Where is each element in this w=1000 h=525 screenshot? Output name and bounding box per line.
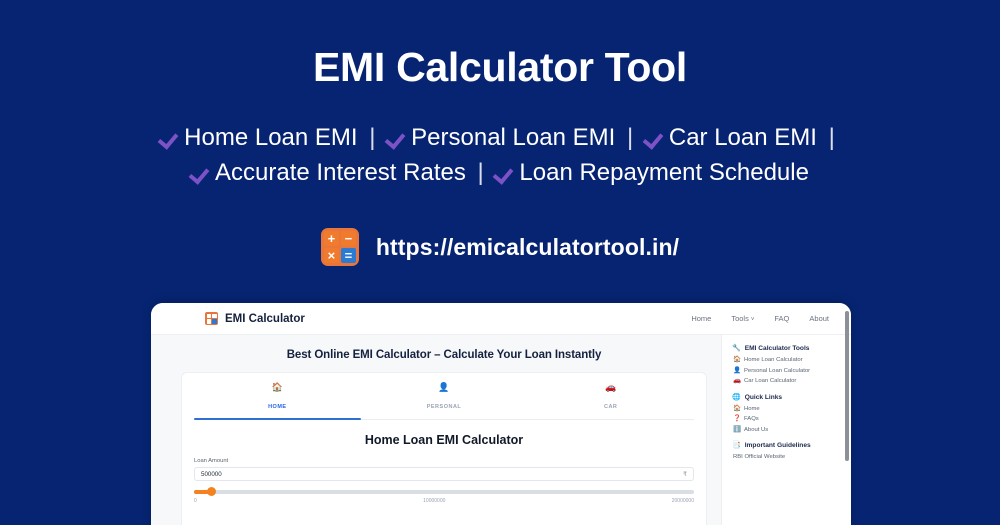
nav-item-about[interactable]: About	[809, 314, 829, 323]
loan-amount-value: 500000	[201, 471, 222, 478]
sidebar-section-tools: 🔧 EMI Calculator Tools 🏠 Home Loan Calcu…	[732, 345, 843, 385]
check-icon	[495, 162, 515, 182]
home-icon: 🏠	[194, 382, 361, 393]
site-header: EMI Calculator Home Tools˅ FAQ About	[151, 303, 851, 335]
tab-car-label: CAR	[604, 404, 617, 410]
tab-home[interactable]: 🏠 HOME	[194, 382, 361, 419]
slider-scale: 0 10000000 20000000	[194, 498, 694, 504]
site-nav: Home Tools˅ FAQ About	[691, 314, 829, 323]
info-icon: ℹ️	[733, 427, 740, 434]
sidebar-item-car-loan-calculator[interactable]: 🚗 Car Loan Calculator	[732, 378, 843, 385]
calculator-card: 🏠 HOME 👤 PERSONAL 🚗 CAR Home Loan EMI Ca	[181, 372, 707, 525]
sidebar-section-important-guidelines: 📑 Important Guidelines RBI Official Webs…	[732, 442, 843, 460]
sidebar-section-title-label: Quick Links	[745, 394, 782, 401]
wrench-icon: 🔧	[732, 345, 741, 352]
loan-amount-slider[interactable]	[194, 488, 694, 494]
slider-track	[194, 490, 694, 494]
nav-item-tools-label: Tools	[731, 314, 749, 323]
loan-amount-label: Loan Amount	[194, 458, 694, 464]
browser-mockup: EMI Calculator Home Tools˅ FAQ About Bes…	[151, 303, 851, 525]
document-icon: 📑	[732, 442, 741, 449]
content-heading: Best Online EMI Calculator – Calculate Y…	[181, 349, 707, 361]
feature-label: Home Loan EMI	[184, 124, 357, 151]
feature-label: Personal Loan EMI	[411, 124, 615, 151]
slider-max-label: 20000000	[672, 498, 694, 504]
tab-personal-label: PERSONAL	[427, 404, 462, 410]
calculator-icon: + − × =	[321, 228, 359, 266]
sidebar-section-title: 📑 Important Guidelines	[732, 442, 843, 449]
sidebar-item-rbi-official-website[interactable]: RBI Official Website	[732, 454, 843, 460]
sidebar-item-label: Car Loan Calculator	[744, 378, 796, 384]
site-brand-label: EMI Calculator	[225, 313, 305, 325]
sidebar-item-personal-loan-calculator[interactable]: 👤 Personal Loan Calculator	[732, 368, 843, 375]
sidebar-item-label: Home Loan Calculator	[744, 357, 803, 363]
slider-min-label: 0	[194, 498, 197, 504]
slider-mid-label: 10000000	[423, 498, 445, 504]
sidebar-item-faqs[interactable]: ❓ FAQs	[732, 416, 843, 423]
check-icon	[387, 127, 407, 147]
nav-item-faq[interactable]: FAQ	[774, 314, 789, 323]
check-icon	[191, 162, 211, 182]
loan-amount-input[interactable]: 500000 ₹	[194, 467, 694, 481]
main-content: Best Online EMI Calculator – Calculate Y…	[151, 335, 721, 525]
page-title: EMI Calculator Tool	[0, 44, 1000, 91]
chevron-down-icon: ˅	[751, 317, 755, 323]
question-icon: ❓	[733, 416, 740, 423]
tab-car[interactable]: 🚗 CAR	[527, 382, 694, 419]
sidebar-item-label: Home	[744, 406, 760, 412]
calculator-title: Home Loan EMI Calculator	[194, 433, 694, 447]
brand-key-3	[207, 319, 212, 324]
car-icon: 🚗	[527, 382, 694, 393]
sidebar-item-label: FAQs	[744, 416, 759, 422]
page-scrollbar[interactable]	[845, 311, 849, 461]
feature-list: Home Loan EMI | Personal Loan EMI | Car …	[0, 120, 1000, 190]
feature-item-4: Accurate Interest Rates	[191, 159, 472, 186]
feature-label: Loan Repayment Schedule	[519, 159, 809, 186]
home-icon: 🏠	[733, 357, 740, 364]
calculator-key-times: ×	[324, 248, 339, 263]
feature-separator: |	[478, 159, 484, 186]
feature-label: Car Loan EMI	[669, 124, 817, 151]
brand-key-1	[207, 314, 212, 319]
calculator-key-plus: +	[324, 231, 339, 246]
sidebar-item-label: About Us	[744, 427, 768, 433]
site-brand[interactable]: EMI Calculator	[205, 312, 305, 325]
sidebar-section-title-label: EMI Calculator Tools	[745, 345, 810, 352]
sidebar-item-home[interactable]: 🏠 Home	[732, 406, 843, 413]
tab-home-label: HOME	[268, 404, 287, 410]
site-body: Best Online EMI Calculator – Calculate Y…	[151, 335, 851, 525]
rupee-icon: ₹	[683, 471, 687, 478]
sidebar-section-title-label: Important Guidelines	[745, 442, 811, 449]
calculator-key-minus: −	[341, 231, 356, 246]
sidebar-section-title: 🌐 Quick Links	[732, 394, 843, 401]
feature-item-3: Car Loan EMI	[645, 124, 824, 151]
feature-separator: |	[627, 124, 633, 151]
sidebar-item-home-loan-calculator[interactable]: 🏠 Home Loan Calculator	[732, 357, 843, 364]
sidebar-section-quick-links: 🌐 Quick Links 🏠 Home ❓ FAQs ℹ️ About Us	[732, 394, 843, 434]
car-icon: 🚗	[733, 378, 740, 385]
brand-key-4	[212, 319, 217, 324]
person-icon: 👤	[733, 368, 740, 375]
check-icon	[160, 127, 180, 147]
hero-banner: EMI Calculator Tool Home Loan EMI | Pers…	[0, 0, 1000, 525]
person-icon: 👤	[361, 382, 528, 393]
feature-item-5: Loan Repayment Schedule	[495, 159, 809, 186]
website-url[interactable]: https://emicalculatortool.in/	[376, 234, 679, 261]
brand-key-2	[212, 314, 217, 319]
calculator-tabs: 🏠 HOME 👤 PERSONAL 🚗 CAR	[194, 382, 694, 420]
sidebar: 🔧 EMI Calculator Tools 🏠 Home Loan Calcu…	[721, 335, 851, 525]
nav-item-tools[interactable]: Tools˅	[731, 314, 754, 323]
sidebar-item-about-us[interactable]: ℹ️ About Us	[732, 427, 843, 434]
feature-label: Accurate Interest Rates	[215, 159, 466, 186]
home-icon: 🏠	[733, 406, 740, 413]
sidebar-section-title: 🔧 EMI Calculator Tools	[732, 345, 843, 352]
check-icon	[645, 127, 665, 147]
feature-separator: |	[829, 124, 835, 151]
calculator-icon	[205, 312, 218, 325]
feature-item-2: Personal Loan EMI	[387, 124, 622, 151]
sidebar-item-label: Personal Loan Calculator	[744, 368, 810, 374]
sidebar-item-label: RBI Official Website	[733, 454, 785, 460]
feature-separator: |	[369, 124, 375, 151]
website-url-row: + − × = https://emicalculatortool.in/	[0, 228, 1000, 266]
feature-item-1: Home Loan EMI	[160, 124, 364, 151]
tab-personal[interactable]: 👤 PERSONAL	[361, 382, 528, 419]
nav-item-home[interactable]: Home	[691, 314, 711, 323]
globe-icon: 🌐	[732, 394, 741, 401]
slider-thumb[interactable]	[207, 487, 216, 496]
calculator-key-equals: =	[341, 248, 356, 263]
